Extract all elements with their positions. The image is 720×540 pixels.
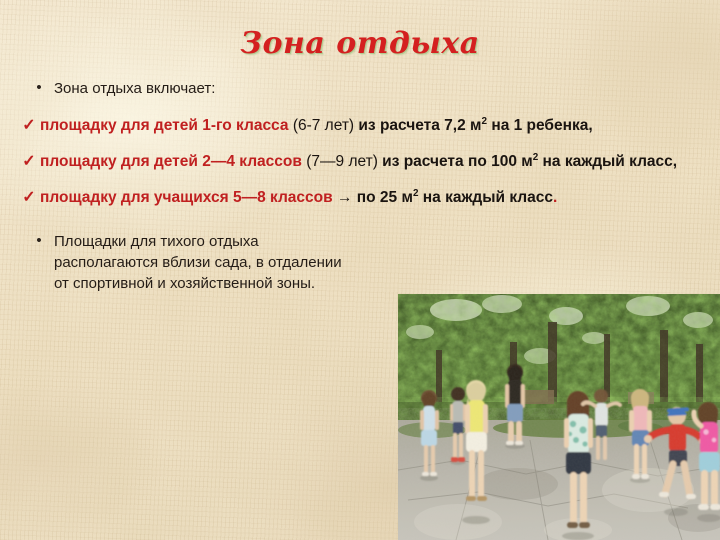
list-item: ✓ площадку для детей 1-го класса (6-7 ле…	[0, 115, 720, 137]
bullet-1-run-1: площадку для детей 1-го класса	[40, 117, 293, 134]
list-item-text: площадку для детей 1-го класса (6-7 лет)…	[40, 115, 720, 137]
bullet-4-label: Площадки для тихого отдыха располагаются…	[54, 233, 342, 292]
content-body: • Зона отдыха включает: ✓ площадку для д…	[0, 78, 720, 294]
bullet-checkmark-icon: ✓	[18, 115, 40, 135]
photo-children-playground	[398, 294, 720, 540]
slide-canvas: Зона отдыха • Зона отдыха включает: ✓ пл…	[0, 0, 720, 540]
spacer	[0, 99, 720, 115]
bullet-checkmark-icon: ✓	[18, 151, 40, 171]
bullet-1-run-4: на 1 ребенка,	[487, 117, 593, 134]
list-item: ✓ площадку для детей 2—4 классов (7—9 ле…	[0, 151, 720, 173]
bullet-1-run-2: (6-7 лет)	[293, 117, 359, 134]
bullet-3-run-3: на каждый класс	[418, 189, 553, 206]
spacer	[0, 209, 720, 231]
list-item: ✓ площадку для учащихся 5—8 классов → по…	[0, 187, 720, 209]
bullet-checkmark-icon: ✓	[18, 187, 40, 207]
bullet-1-run-3: из расчета 7,2 м	[358, 117, 481, 134]
list-item-text: площадку для детей 2—4 классов (7—9 лет)…	[40, 151, 720, 173]
list-item-text: Площадки для тихого отдыха располагаются…	[54, 231, 368, 294]
photo-artwork	[398, 294, 720, 540]
bullet-2-run-1: площадку для детей 2—4 классов	[40, 153, 306, 170]
bullet-2-run-4: на каждый класс,	[538, 153, 677, 170]
bullet-dot-icon: •	[24, 231, 54, 250]
bullet-2-run-2: (7—9 лет)	[306, 153, 382, 170]
list-item: • Площадки для тихого отдыха располагают…	[0, 231, 720, 294]
list-item: • Зона отдыха включает:	[0, 78, 720, 99]
bullet-2-run-3: из расчета по 100 м	[382, 153, 533, 170]
bullet-dot-icon: •	[24, 78, 54, 97]
bullet-3-run-2: → по 25 м	[337, 189, 413, 206]
slide-title: Зона отдыха	[0, 26, 720, 61]
list-item-text: площадку для учащихся 5—8 классов → по 2…	[40, 187, 720, 209]
bullet-0-label: Зона отдыха включает:	[54, 80, 215, 97]
list-item-text: Зона отдыха включает:	[54, 78, 720, 99]
bullet-3-run-1: площадку для учащихся 5—8 классов	[40, 189, 337, 206]
spacer	[0, 173, 720, 187]
spacer	[0, 137, 720, 151]
bullet-3-run-4: .	[553, 189, 557, 206]
